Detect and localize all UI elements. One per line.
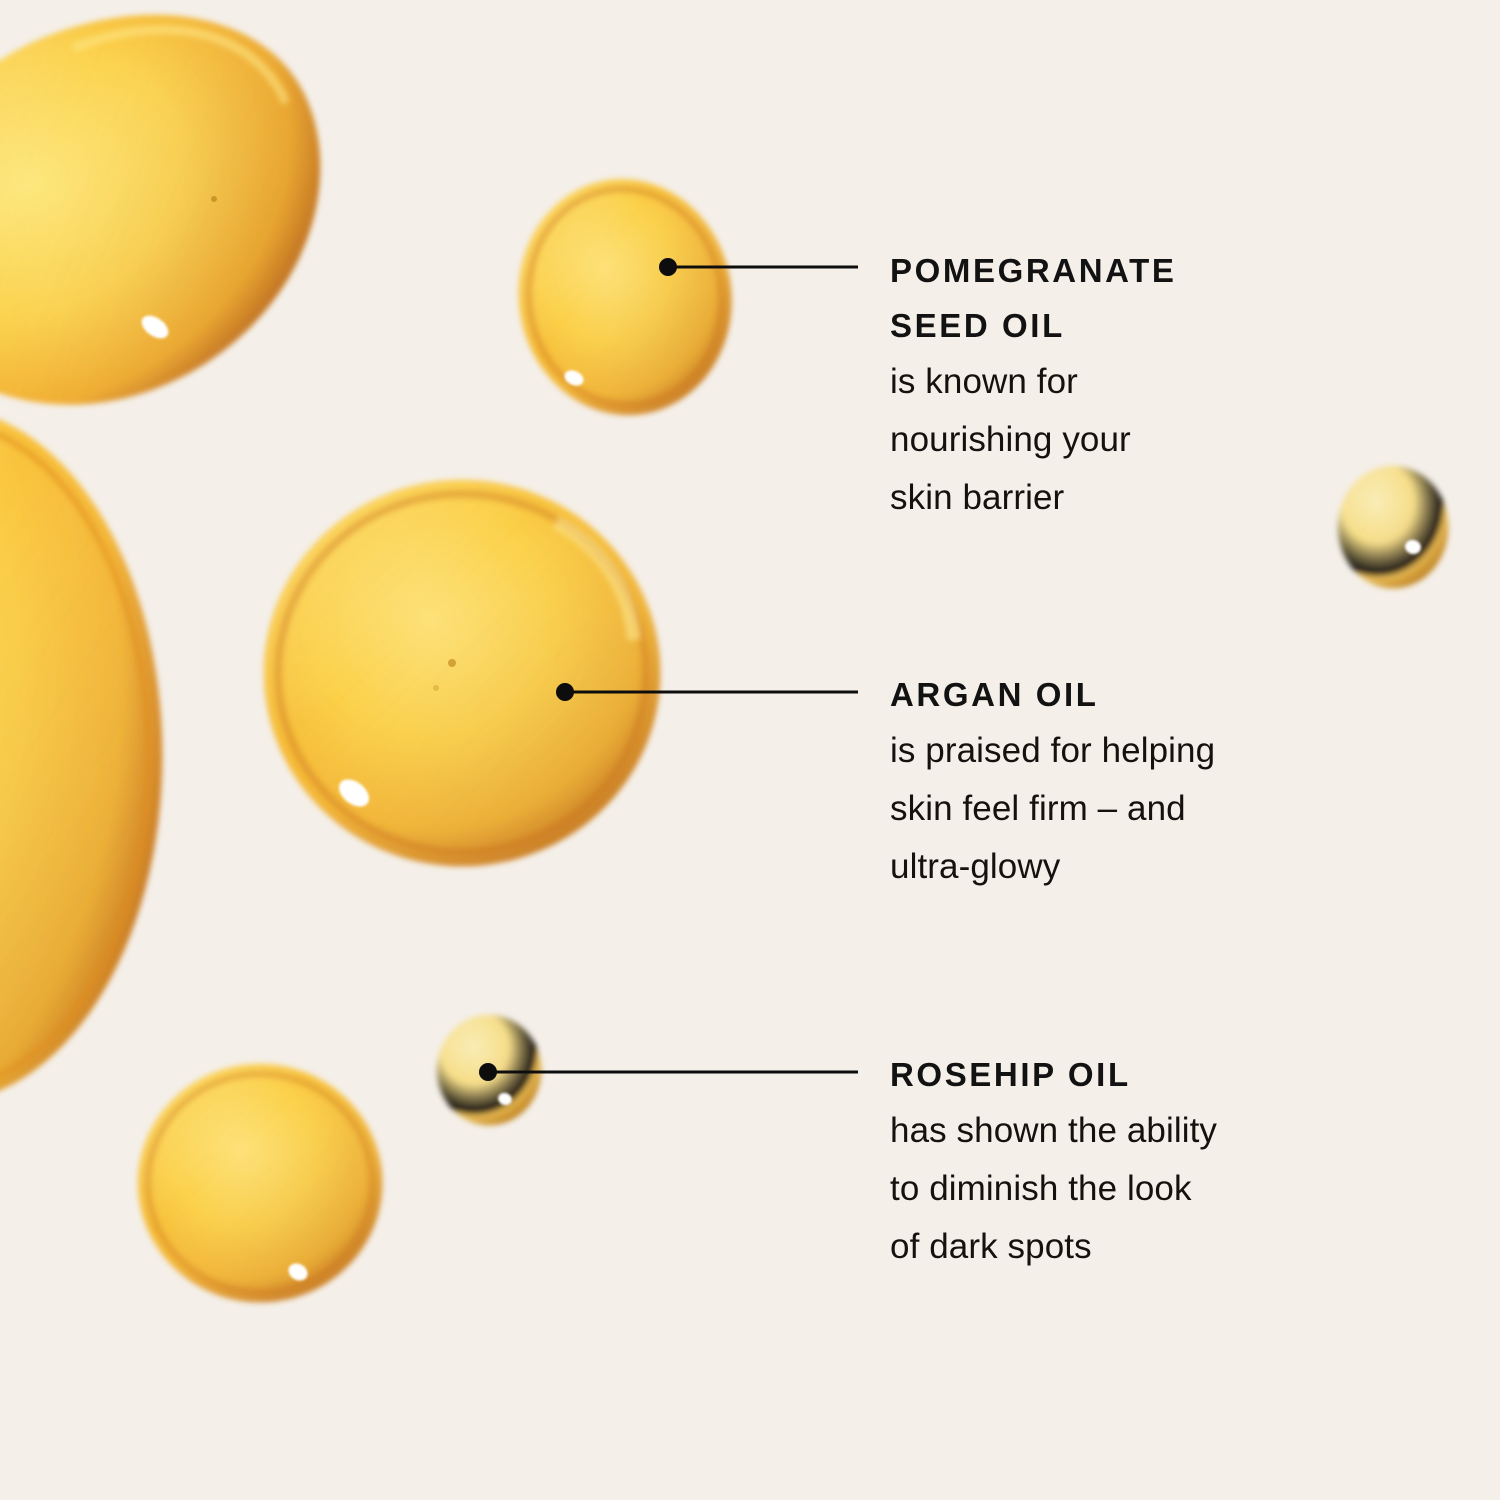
callout-rosehip-oil: ROSEHIP OIL has shown the ability to dim… bbox=[890, 1047, 1360, 1276]
callout-pomegranate-seed-oil: POMEGRANATE SEED OIL is known for nouris… bbox=[890, 243, 1360, 527]
droplet-bottom-left bbox=[138, 1064, 382, 1302]
ingredient-title-rosehip-oil: ROSEHIP OIL bbox=[890, 1047, 1360, 1102]
ingredient-description-pomegranate-seed-oil: is known for nourishing your skin barrie… bbox=[890, 353, 1360, 527]
droplet-center-large bbox=[264, 480, 660, 866]
ingredient-description-argan-oil: is praised for helping skin feel firm – … bbox=[890, 722, 1360, 896]
droplet-top-middle bbox=[504, 165, 747, 428]
droplet-teardrop-top-left bbox=[0, 0, 394, 480]
ingredient-description-rosehip-oil: has shown the ability to diminish the lo… bbox=[890, 1102, 1360, 1276]
droplet-small-rosehip bbox=[437, 1015, 541, 1125]
callout-argan-oil: ARGAN OIL is praised for helping skin fe… bbox=[890, 667, 1360, 896]
ingredient-title-pomegranate-seed-oil: POMEGRANATE SEED OIL bbox=[890, 243, 1360, 353]
ingredient-title-argan-oil: ARGAN OIL bbox=[890, 667, 1360, 722]
infographic-canvas: POMEGRANATE SEED OIL is known for nouris… bbox=[0, 0, 1500, 1500]
droplet-blob-left-large bbox=[0, 407, 162, 1103]
